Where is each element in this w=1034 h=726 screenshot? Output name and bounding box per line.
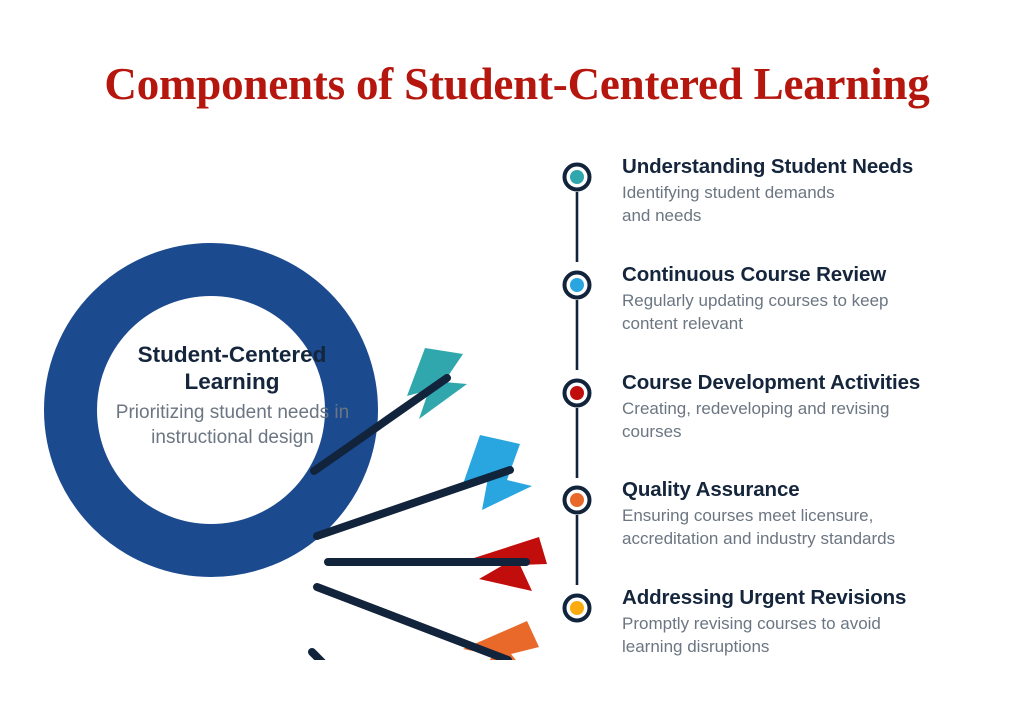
timeline-dot-1-fill xyxy=(570,170,584,184)
timeline-dot-4[interactable] xyxy=(565,488,590,513)
arrow-quality-assurance xyxy=(317,587,539,660)
timeline-item-course-development-activities[interactable]: Course Development Activities Creating, … xyxy=(622,370,1007,443)
infographic-canvas: Components of Student-Centered Learning xyxy=(0,0,1034,726)
timeline-dot-3-fill xyxy=(570,386,584,400)
donut-diagram: Student-Centered Learning Prioritizing s… xyxy=(20,160,550,660)
timeline-item-continuous-course-review[interactable]: Continuous Course Review Regularly updat… xyxy=(622,262,1007,335)
timeline-item-heading: Course Development Activities xyxy=(622,370,1007,395)
timeline-item-heading: Continuous Course Review xyxy=(622,262,1007,287)
timeline-dot-2-fill xyxy=(570,278,584,292)
timeline-dot-1[interactable] xyxy=(565,165,590,190)
timeline-dot-5-fill xyxy=(570,601,584,615)
timeline-dot-2[interactable] xyxy=(565,273,590,298)
timeline-item-quality-assurance[interactable]: Quality Assurance Ensuring courses meet … xyxy=(622,477,1007,550)
timeline-item-description: Creating, redeveloping and revising cour… xyxy=(622,398,1007,443)
page-title: Components of Student-Centered Learning xyxy=(0,58,1034,110)
timeline-axis xyxy=(560,150,600,670)
timeline-item-description: Identifying student demands and needs xyxy=(622,182,1007,227)
components-timeline: Understanding Student Needs Identifying … xyxy=(560,150,1010,670)
timeline-item-addressing-urgent-revisions[interactable]: Addressing Urgent Revisions Promptly rev… xyxy=(622,585,1007,658)
timeline-item-heading: Addressing Urgent Revisions xyxy=(622,585,1007,610)
timeline-item-understanding-student-needs[interactable]: Understanding Student Needs Identifying … xyxy=(622,154,1007,227)
arrow-addressing-urgent-revisions xyxy=(312,652,452,660)
arrow-shaft-yellow xyxy=(312,652,432,660)
timeline-dot-5[interactable] xyxy=(565,596,590,621)
timeline-dot-4-fill xyxy=(570,493,584,507)
center-heading: Student-Centered Learning xyxy=(117,341,347,395)
timeline-item-description: Regularly updating courses to keep conte… xyxy=(622,290,1007,335)
timeline-item-heading: Quality Assurance xyxy=(622,477,1007,502)
timeline-item-heading: Understanding Student Needs xyxy=(622,154,1007,179)
timeline-item-description: Promptly revising courses to avoid learn… xyxy=(622,613,1007,658)
arrow-course-development-activities xyxy=(328,537,547,591)
arrow-shaft-orange xyxy=(317,587,508,660)
center-description: Prioritizing student needs in instructio… xyxy=(106,400,359,450)
timeline-dot-3[interactable] xyxy=(565,381,590,406)
timeline-item-description: Ensuring courses meet licensure, accredi… xyxy=(622,505,1007,550)
